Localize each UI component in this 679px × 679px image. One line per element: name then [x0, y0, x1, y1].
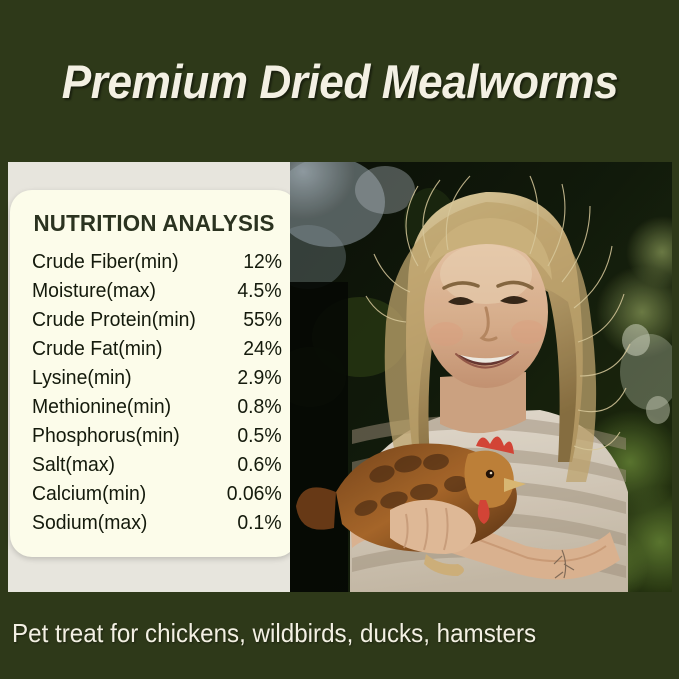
table-row: Moisture(max) 4.5% [32, 280, 282, 309]
table-row: Sodium(max) 0.1% [32, 512, 282, 541]
nutrient-label: Sodium(max) [32, 512, 147, 535]
nutrient-value: 0.8% [238, 396, 282, 419]
product-photo [290, 162, 672, 592]
nutrient-value: 12% [243, 251, 282, 274]
nutrient-label: Crude Fat(min) [32, 338, 162, 361]
title-bar: Premium Dried Mealworms [0, 0, 679, 162]
table-row: Salt(max) 0.6% [32, 454, 282, 483]
nutrient-label: Phosphorus(min) [32, 425, 180, 448]
table-row: Calcium(min) 0.06% [32, 483, 282, 512]
nutrient-value: 0.06% [227, 483, 282, 506]
table-row: Methionine(min) 0.8% [32, 396, 282, 425]
table-row: Crude Protein(min) 55% [32, 309, 282, 338]
nutrition-heading: NUTRITION ANALYSIS [14, 210, 293, 237]
nutrient-value: 24% [243, 338, 282, 361]
footer-tagline: Pet treat for chickens, wildbirds, ducks… [12, 618, 536, 649]
table-row: Crude Fiber(min) 12% [32, 251, 282, 280]
nutrient-value: 2.9% [238, 367, 282, 390]
nutrient-value: 4.5% [238, 280, 282, 303]
nutrient-value: 55% [243, 309, 282, 332]
table-row: Phosphorus(min) 0.5% [32, 425, 282, 454]
nutrition-card: NUTRITION ANALYSIS Crude Fiber(min) 12% … [10, 190, 298, 557]
nutrient-label: Moisture(max) [32, 280, 156, 303]
nutrient-label: Methionine(min) [32, 396, 171, 419]
content-band: NUTRITION ANALYSIS Crude Fiber(min) 12% … [0, 162, 679, 592]
nutrient-label: Crude Fiber(min) [32, 251, 179, 274]
photo-illustration [290, 162, 672, 592]
nutrient-value: 0.6% [238, 454, 282, 477]
table-row: Crude Fat(min) 24% [32, 338, 282, 367]
page-title: Premium Dried Mealworms [61, 54, 617, 109]
nutrition-rows: Crude Fiber(min) 12% Moisture(max) 4.5% … [10, 251, 298, 541]
nutrient-label: Salt(max) [32, 454, 115, 477]
nutrient-value: 0.5% [238, 425, 282, 448]
table-row: Lysine(min) 2.9% [32, 367, 282, 396]
nutrient-label: Calcium(min) [32, 483, 146, 506]
nutrient-label: Crude Protein(min) [32, 309, 196, 332]
nutrient-value: 0.1% [238, 512, 282, 535]
nutrient-label: Lysine(min) [32, 367, 132, 390]
